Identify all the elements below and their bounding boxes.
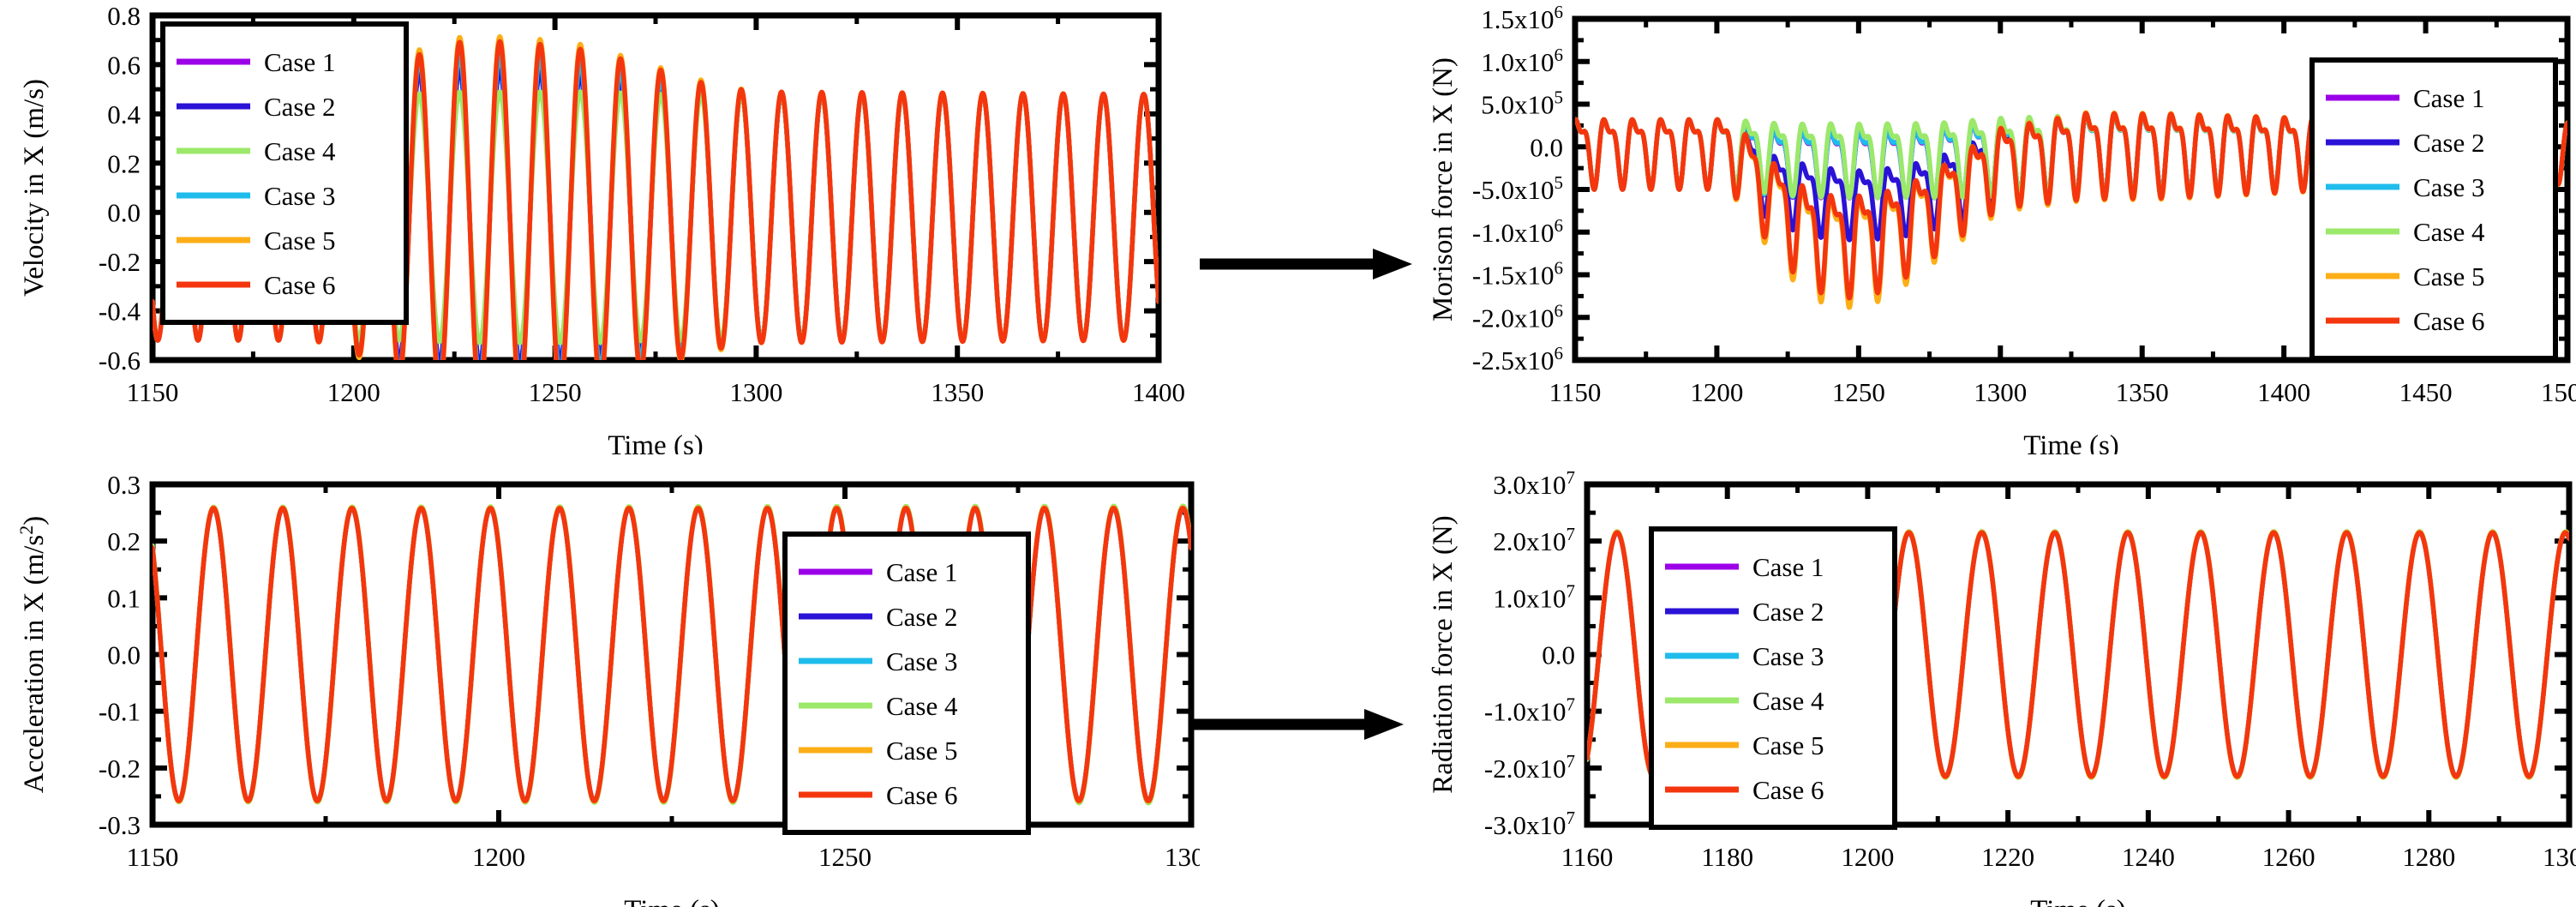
- legend-label: Case 5: [2413, 261, 2485, 291]
- legend-label: Case 4: [2413, 217, 2485, 247]
- arrow-velocity-to-morison: [1198, 238, 1412, 294]
- x-tick-label: 1300: [2543, 842, 2576, 872]
- y-tick-label: -3.0x107: [1484, 808, 1575, 840]
- x-tick-label: 1280: [2402, 842, 2455, 872]
- legend-label: Case 3: [1752, 641, 1824, 671]
- x-tick-label: 1150: [127, 377, 179, 407]
- legend-label: Case 1: [1752, 552, 1824, 582]
- legend-label: Case 2: [1752, 597, 1824, 627]
- y-tick-label: 0.0: [1542, 640, 1575, 670]
- y-tick-label: -1.0x106: [1472, 215, 1563, 248]
- x-tick-label: 1200: [472, 842, 525, 872]
- x-tick-label: 1450: [2399, 377, 2453, 407]
- legend: Case 1Case 2Case 3Case 4Case 5Case 6: [785, 534, 1028, 832]
- x-tick-label: 1400: [1132, 377, 1185, 407]
- y-tick-label: 0.0: [107, 640, 141, 670]
- legend-label: Case 5: [264, 225, 336, 255]
- legend-label: Case 5: [886, 736, 958, 766]
- tick-labels: 11601180120012201240126012801300-3.0x107…: [1484, 467, 2576, 872]
- y-tick-label: 5.0x105: [1481, 87, 1563, 120]
- legend-label: Case 4: [1752, 686, 1824, 716]
- legend-label: Case 3: [886, 646, 958, 676]
- x-tick-label: 1260: [2262, 842, 2315, 872]
- x-tick-label: 1500: [2541, 377, 2576, 407]
- x-axis-title: Time (s): [608, 430, 704, 454]
- legend-label: Case 1: [886, 557, 958, 587]
- x-tick-label: 1300: [729, 377, 782, 407]
- legend-label: Case 6: [886, 780, 958, 810]
- y-axis-title: Acceleration in X (m/s2): [15, 516, 51, 793]
- x-axis-title: Time (s): [624, 895, 720, 907]
- legend-label: Case 4: [886, 691, 958, 721]
- x-tick-label: 1200: [327, 377, 380, 407]
- y-tick-label: 0.4: [107, 99, 141, 129]
- y-tick-label: 1.0x106: [1481, 45, 1563, 77]
- y-tick-label: 2.0x107: [1493, 524, 1575, 556]
- x-tick-label: 1300: [1974, 377, 2027, 407]
- y-tick-label: 1.0x107: [1493, 580, 1575, 613]
- x-tick-label: 1250: [818, 842, 872, 872]
- x-tick-label: 1350: [931, 377, 984, 407]
- y-tick-label: -2.0x107: [1484, 751, 1575, 784]
- y-tick-label: 1.5x106: [1481, 2, 1563, 34]
- legend-label: Case 2: [886, 602, 958, 632]
- legend: Case 1Case 2Case 4Case 3Case 5Case 6: [163, 24, 406, 322]
- y-tick-label: 0.6: [107, 50, 141, 80]
- y-tick-label: 0.0: [1530, 132, 1563, 162]
- legend-label: Case 1: [264, 47, 336, 77]
- legend-label: Case 6: [2413, 306, 2485, 336]
- y-tick-label: -1.5x106: [1472, 258, 1563, 291]
- y-tick-label: 0.8: [107, 1, 141, 31]
- legend-label: Case 3: [2413, 172, 2485, 202]
- legend-label: Case 1: [2413, 83, 2485, 113]
- y-tick-label: -0.3: [99, 810, 141, 840]
- y-axis-title: Morison force in X (N): [1428, 57, 1459, 321]
- y-tick-label: -0.2: [99, 247, 141, 277]
- series-line-case-6: [153, 508, 1191, 801]
- legend: Case 1Case 2Case 3Case 4Case 5Case 6: [2312, 60, 2555, 358]
- y-tick-label: 0.3: [107, 470, 141, 500]
- x-tick-label: 1200: [1841, 842, 1894, 872]
- legend-label: Case 3: [264, 181, 336, 211]
- x-tick-label: 1250: [529, 377, 582, 407]
- legend-label: Case 4: [264, 136, 336, 166]
- x-tick-label: 1150: [127, 842, 179, 872]
- legend-label: Case 5: [1752, 730, 1824, 760]
- morison-force-panel: 11501200125013001350140014501500-2.5x106…: [1412, 0, 2576, 454]
- x-tick-label: 1400: [2257, 377, 2310, 407]
- x-tick-label: 1240: [2122, 842, 2175, 872]
- legend-label: Case 2: [264, 92, 336, 122]
- series-group: [153, 506, 1191, 803]
- radiation-force-panel: 11601180120012201240126012801300-3.0x107…: [1412, 454, 2576, 907]
- x-tick-label: 1200: [1690, 377, 1743, 407]
- velocity-panel: 115012001250130013501400-0.6-0.4-0.20.00…: [0, 0, 1200, 454]
- x-tick-label: 1250: [1832, 377, 1885, 407]
- x-axis-title: Time (s): [2030, 895, 2126, 907]
- y-tick-label: -0.4: [99, 297, 141, 327]
- y-tick-label: -2.0x106: [1472, 300, 1563, 333]
- x-tick-label: 1160: [1561, 842, 1614, 872]
- x-tick-label: 1350: [2116, 377, 2169, 407]
- figure-root: 115012001250130013501400-0.6-0.4-0.20.00…: [0, 0, 2576, 907]
- legend-label: Case 6: [264, 270, 336, 300]
- y-tick-label: -5.0x105: [1472, 172, 1563, 205]
- y-tick-label: 0.2: [107, 526, 141, 556]
- acceleration-panel: 1150120012501300-0.3-0.2-0.10.00.10.20.3…: [0, 454, 1200, 907]
- legend-label: Case 6: [1752, 775, 1824, 805]
- y-tick-label: -1.0x107: [1484, 694, 1575, 727]
- y-tick-label: 3.0x107: [1493, 467, 1575, 500]
- x-axis-title: Time (s): [2023, 430, 2119, 454]
- y-tick-label: 0.0: [107, 198, 141, 228]
- legend-label: Case 2: [2413, 128, 2485, 158]
- y-tick-label: -0.1: [99, 697, 141, 727]
- y-tick-label: -0.6: [99, 345, 141, 375]
- x-tick-label: 1300: [1165, 842, 1200, 872]
- y-tick-label: -0.2: [99, 754, 141, 784]
- x-tick-label: 1150: [1549, 377, 1602, 407]
- legend: Case 1Case 2Case 3Case 4Case 5Case 6: [1651, 529, 1895, 827]
- y-axis-title: Velocity in X (m/s): [19, 79, 50, 297]
- y-tick-label: 0.2: [107, 148, 141, 178]
- y-axis-title: Radiation force in X (N): [1428, 515, 1459, 793]
- y-tick-label: 0.1: [107, 583, 141, 613]
- x-tick-label: 1220: [1981, 842, 2034, 872]
- x-tick-label: 1180: [1701, 842, 1753, 872]
- y-tick-label: -2.5x106: [1472, 343, 1563, 375]
- arrow-acceleration-to-radiation: [1189, 699, 1404, 754]
